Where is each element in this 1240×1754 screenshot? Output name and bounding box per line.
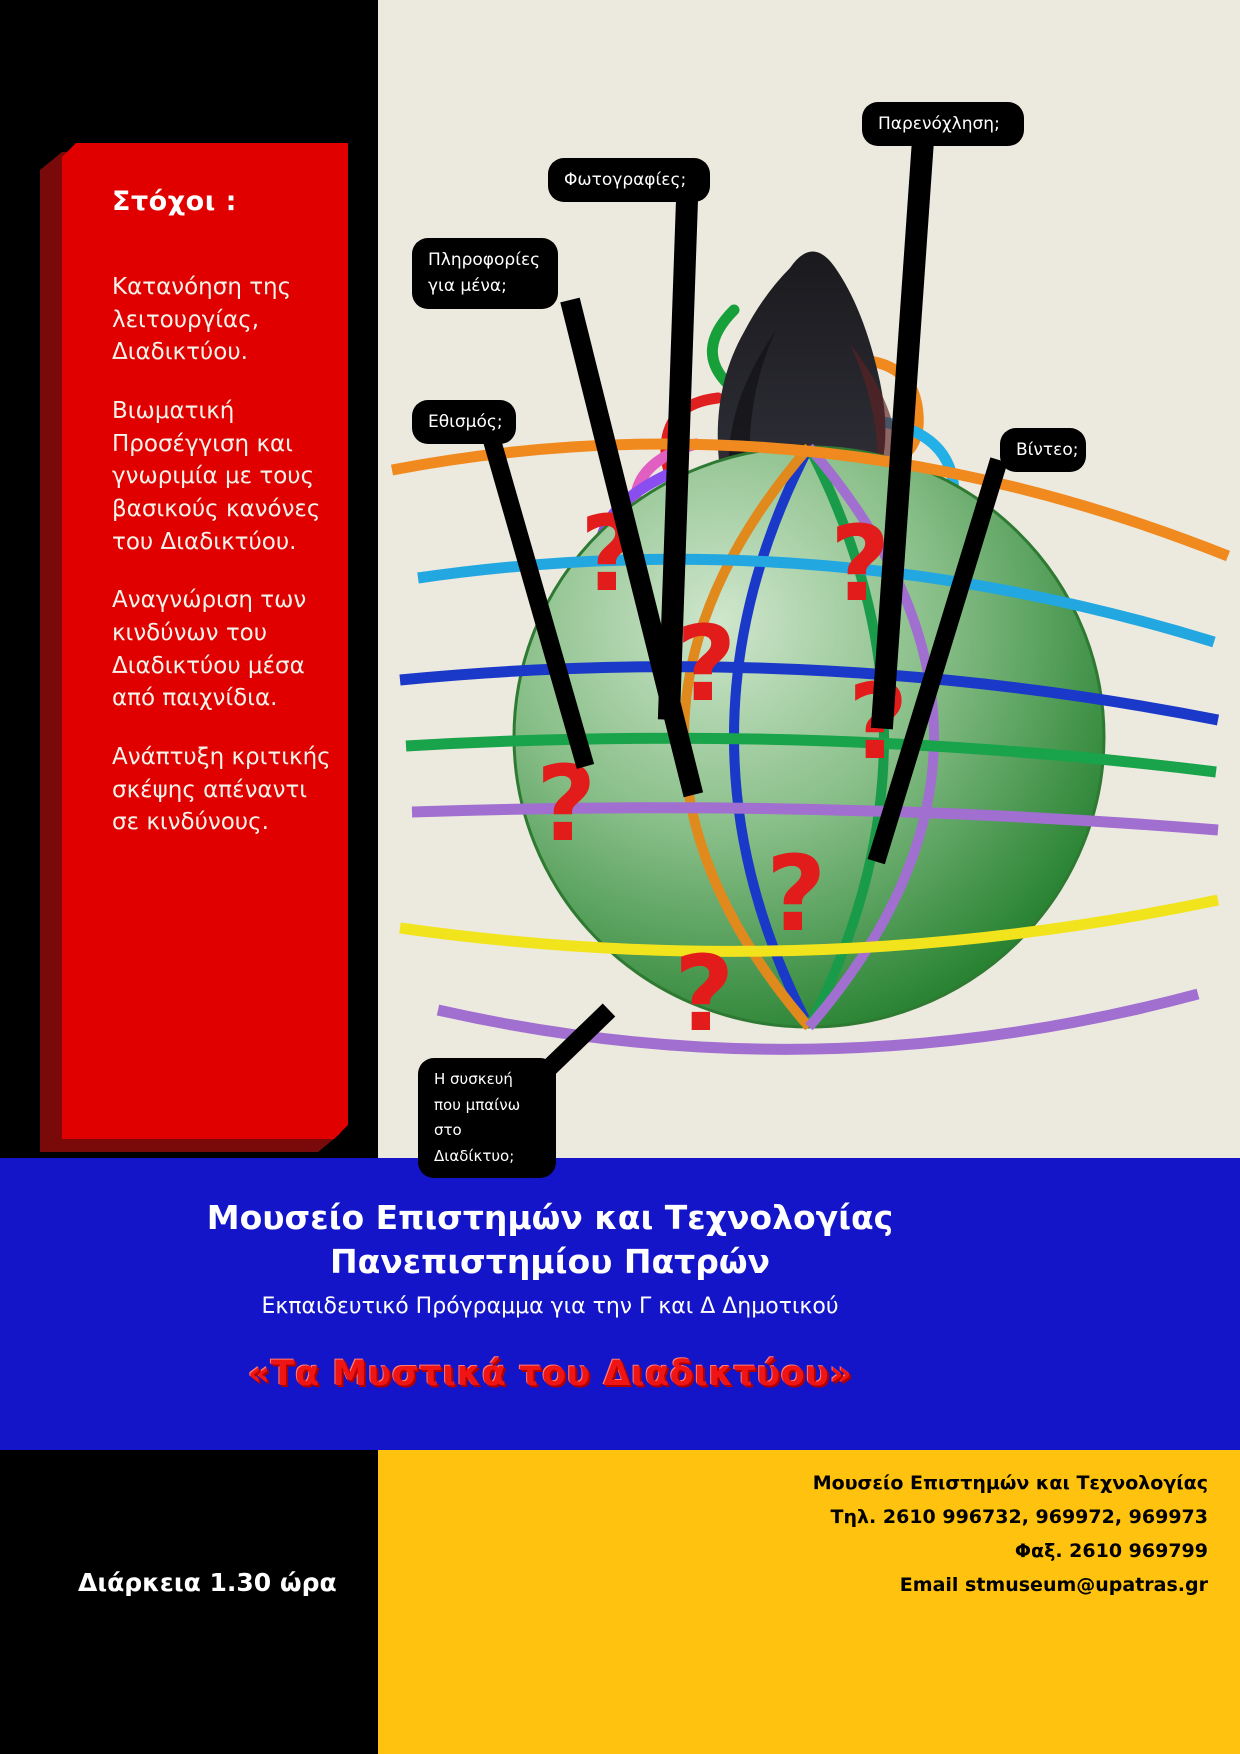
goal-item: Κατανόηση της λειτουργίας, Διαδικτύου. <box>112 271 332 369</box>
bubble-label: Βίντεο; <box>1016 440 1078 460</box>
blue-banner: Μουσείο Επιστημών και Τεχνολογίας Πανεπι… <box>0 1158 1240 1450</box>
contact-line: Μουσείο Επιστημών και Τεχνολογίας <box>813 1472 1208 1494</box>
globe-svg: ? ? ? ? ? ? ? <box>378 0 1240 1158</box>
bubble-video[interactable]: Βίντεο; <box>1000 428 1086 472</box>
contact-box <box>378 1450 1240 1754</box>
program-subtitle: Εκπαιδευτικό Πρόγραμμα για την Γ και Δ Δ… <box>0 1294 1100 1319</box>
goals-title: Στόχοι : <box>112 186 332 217</box>
globe-illustration: ? ? ? ? ? ? ? <box>378 0 1240 1158</box>
goal-item: Ανάπτυξη κριτικής σκέψης απέναντι σε κιν… <box>112 741 332 839</box>
goal-item: Αναγνώριση των κινδύνων του Διαδικτύου μ… <box>112 584 332 715</box>
bubble-label: Φωτογραφίες; <box>564 170 686 190</box>
bubble-addiction[interactable]: Εθισμός; <box>412 400 516 444</box>
bubble-label: Παρενόχληση; <box>878 114 1000 134</box>
program-title: «Τα Μυστικά του Διαδικτύου» <box>0 1354 1100 1394</box>
question-mark: ? <box>674 933 734 1055</box>
museum-name-line1: Μουσείο Επιστημών και Τεχνολογίας <box>0 1198 1100 1237</box>
poster-root: Στόχοι : Κατανόηση της λειτουργίας, Διαδ… <box>0 0 1240 1754</box>
contact-line: Φαξ. 2610 969799 <box>1015 1540 1208 1562</box>
bubble-label: Πληροφορίες για μένα; <box>428 250 540 296</box>
bubble-info[interactable]: Πληροφορίες για μένα; <box>412 238 558 309</box>
goal-item: Βιωματική Προσέγγιση και γνωριμία με του… <box>112 395 332 558</box>
goals-content: Στόχοι : Κατανόηση της λειτουργίας, Διαδ… <box>112 186 332 865</box>
bubble-harassment[interactable]: Παρενόχληση; <box>862 102 1024 146</box>
contact-line: Email stmuseum@upatras.gr <box>900 1574 1208 1596</box>
bubble-photos[interactable]: Φωτογραφίες; <box>548 158 710 202</box>
question-mark: ? <box>676 603 736 725</box>
question-mark: ? <box>766 833 826 955</box>
museum-name-line2: Πανεπιστημίου Πατρών <box>0 1242 1100 1281</box>
contact-line: Τηλ. 2610 996732, 969972, 969973 <box>831 1506 1208 1528</box>
bubble-label: Η συσκευή που μπαίνω στο Διαδίκτυο; <box>434 1070 520 1165</box>
bubble-device[interactable]: Η συσκευή που μπαίνω στο Διαδίκτυο; <box>418 1058 556 1178</box>
bubble-label: Εθισμός; <box>428 412 503 432</box>
duration-label: Διάρκεια 1.30 ώρα <box>78 1568 337 1597</box>
